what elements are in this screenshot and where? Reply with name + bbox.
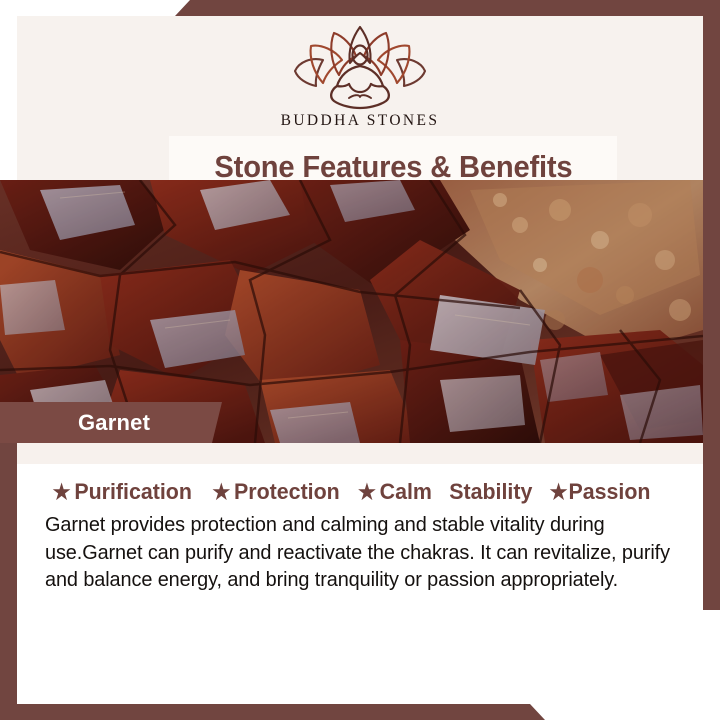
feature-item-protection: ★ Protection xyxy=(212,479,339,505)
panel-top-tint xyxy=(17,443,703,464)
star-icon: ★ xyxy=(53,482,71,503)
star-icon: ★ xyxy=(212,482,230,503)
feature-item-calm: ★ Calm xyxy=(358,479,432,505)
feature-item-passion: ★ Passion xyxy=(550,479,651,505)
decor-top-bar xyxy=(0,0,720,16)
stone-description: Garnet provides protection and calming a… xyxy=(45,511,671,594)
feature-item-stability: ★ Stability xyxy=(449,479,532,505)
decor-bottom-bar xyxy=(0,704,720,720)
feature-label: Passion xyxy=(569,479,651,505)
feature-label: Calm xyxy=(379,479,431,505)
brand-logo: BUDDHA STONES xyxy=(17,24,703,130)
lotus-meditation-icon xyxy=(285,24,435,110)
feature-label: Stability xyxy=(449,479,532,505)
feature-label: Protection xyxy=(234,479,340,505)
header: BUDDHA STONES Stone Features & Benefits xyxy=(17,16,703,182)
infographic-card: BUDDHA STONES Stone Features & Benefits xyxy=(0,0,720,720)
decor-right-strip xyxy=(703,0,720,610)
stone-name-banner: Garnet xyxy=(0,402,222,443)
content-panel: ★ Purification ★ Protection ★ Calm ★ Sta… xyxy=(17,443,703,704)
decor-left-strip xyxy=(0,398,17,720)
feature-list: ★ Purification ★ Protection ★ Calm ★ Sta… xyxy=(49,479,689,505)
feature-item-purification: ★ Purification xyxy=(53,479,192,505)
star-icon: ★ xyxy=(550,482,568,503)
brand-name: BUDDHA STONES xyxy=(281,112,440,130)
feature-label: Purification xyxy=(74,479,192,505)
star-icon: ★ xyxy=(358,482,376,503)
stone-name: Garnet xyxy=(78,410,150,436)
